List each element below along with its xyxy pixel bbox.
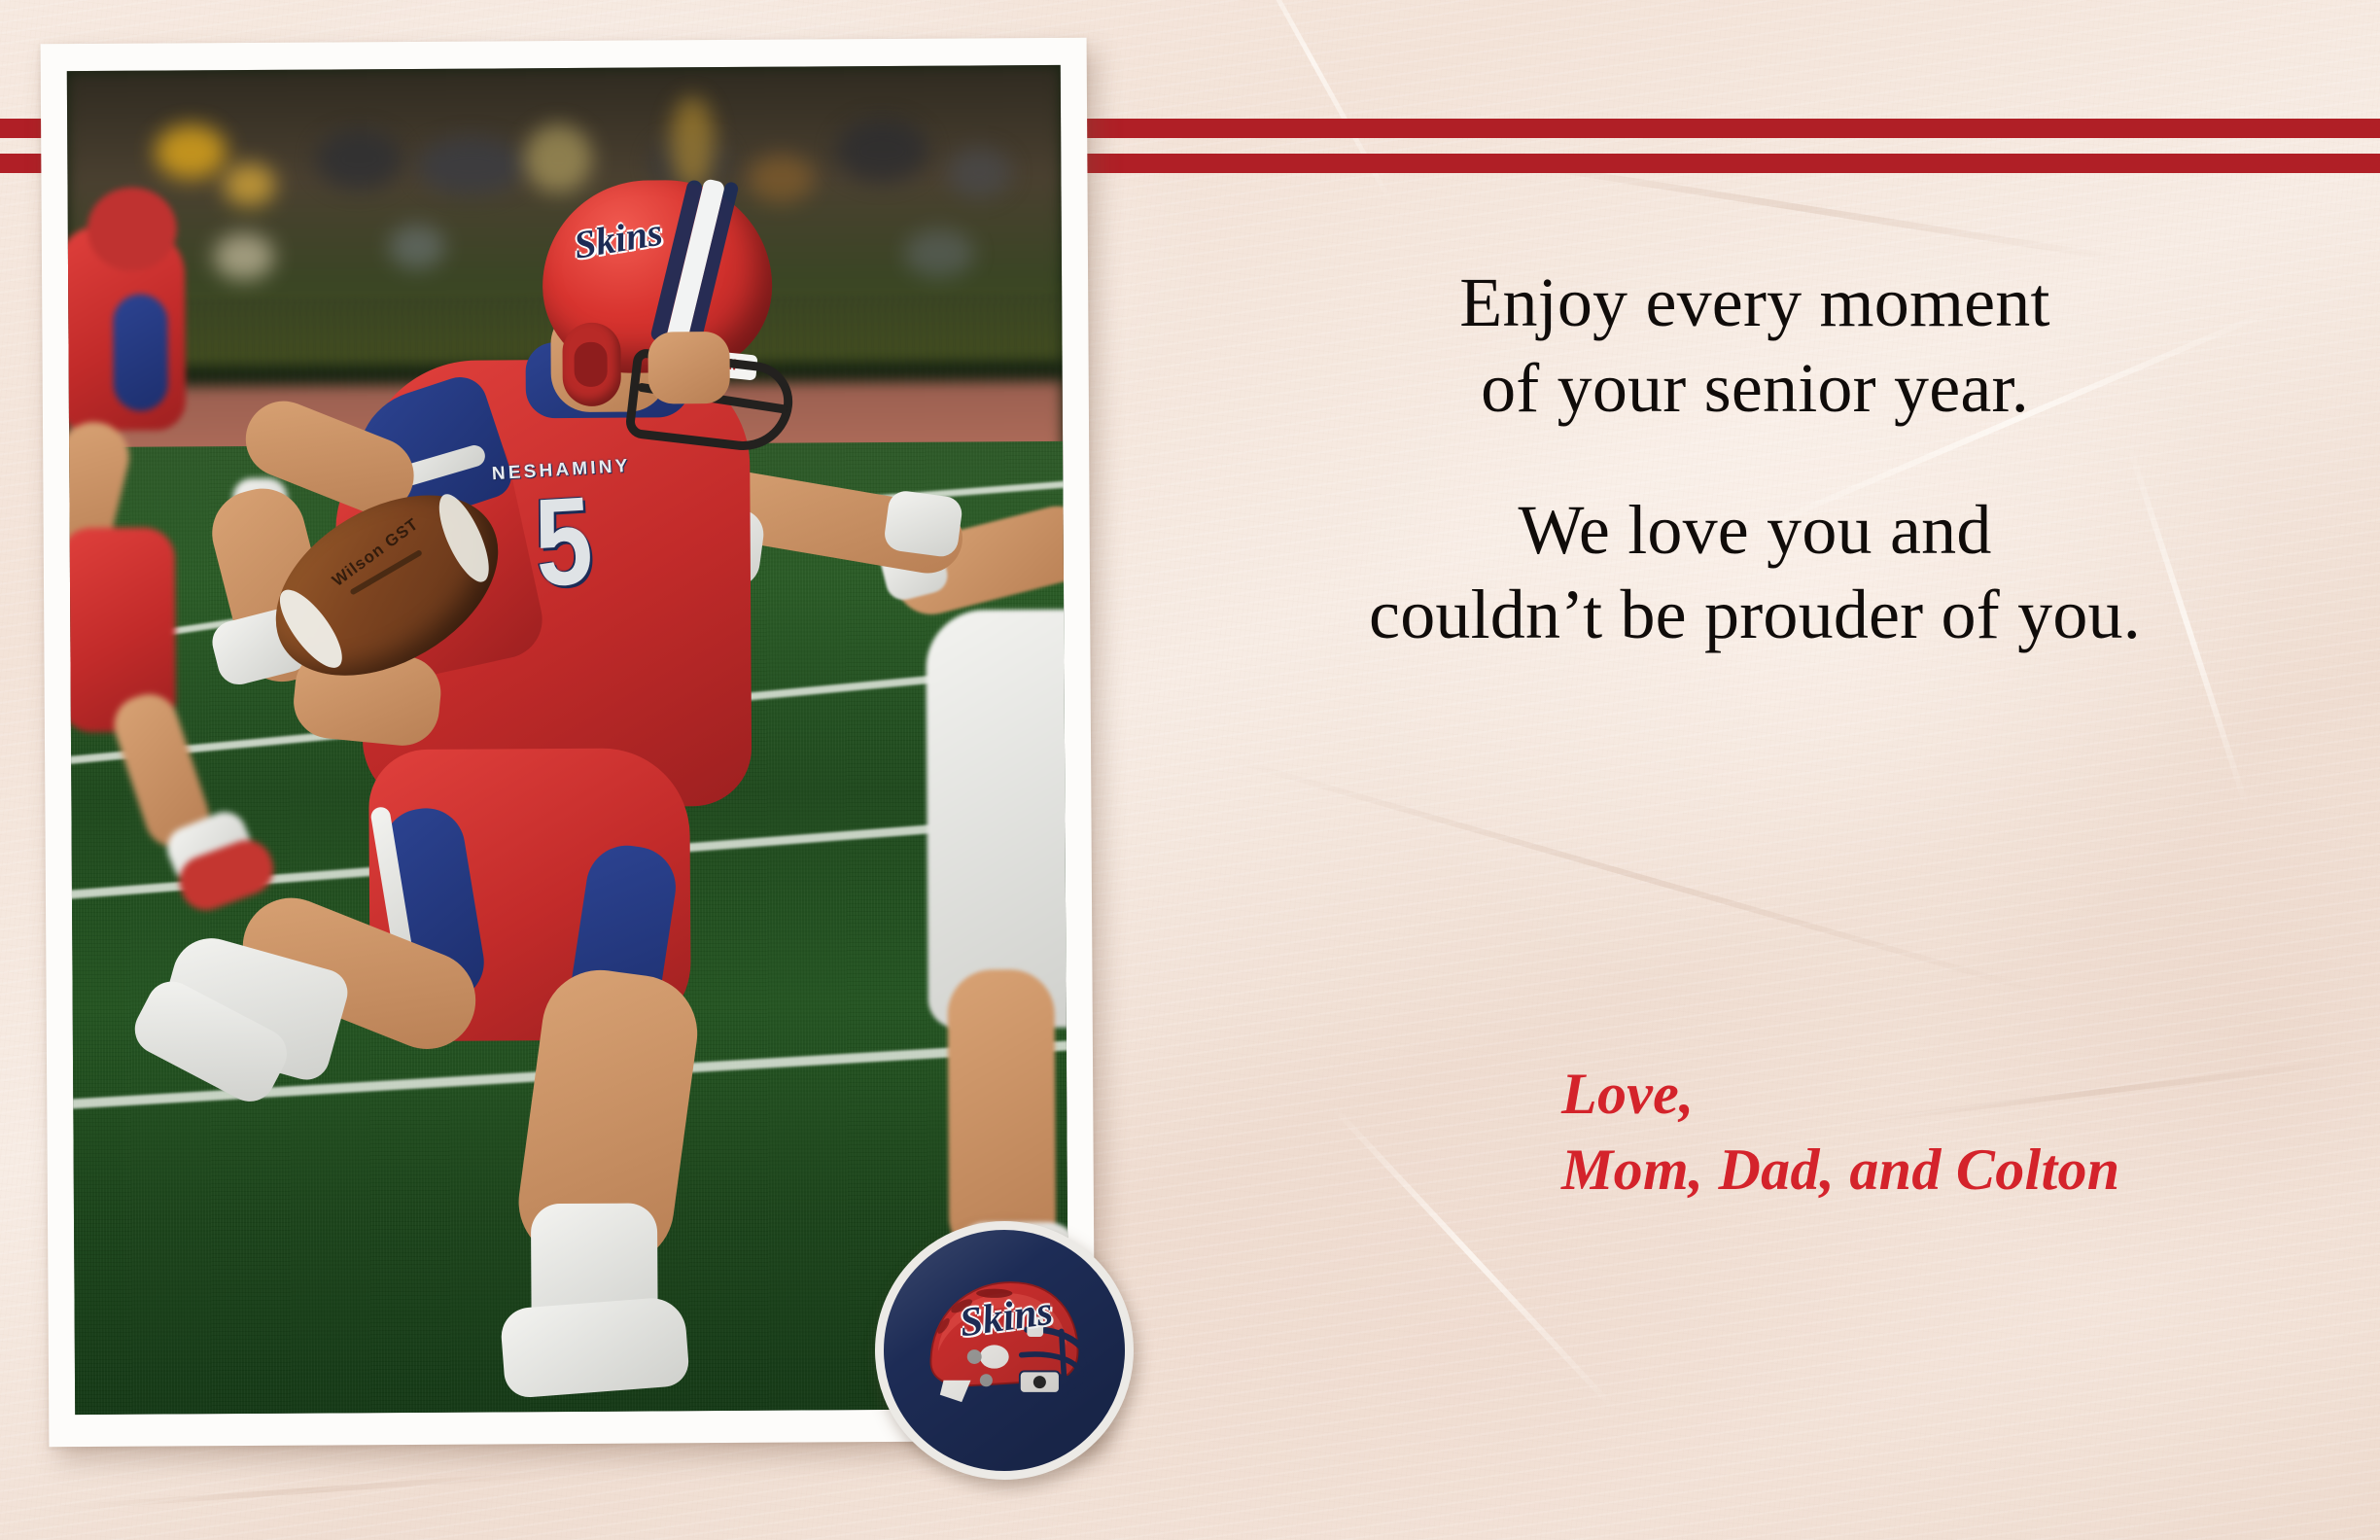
player-photo: NESHAMINY 5 Wilson GST bbox=[67, 65, 1068, 1415]
tribute-message: Enjoy every moment of your senior year. … bbox=[1303, 261, 2207, 658]
signature-block: Love, Mom, Dad, and Colton bbox=[1561, 1056, 2380, 1207]
message-line-3: We love you and bbox=[1303, 488, 2207, 574]
badge-sheen bbox=[884, 1230, 1125, 1471]
senior-tribute-page: NESHAMINY 5 Wilson GST bbox=[0, 0, 2380, 1540]
photo-main-player: NESHAMINY 5 Wilson GST bbox=[67, 65, 1068, 1415]
team-helmet-badge: Skins bbox=[875, 1221, 1134, 1480]
message-spacer bbox=[1303, 432, 2207, 488]
message-line-1: Enjoy every moment bbox=[1303, 261, 2207, 346]
message-line-4: couldn’t be prouder of you. bbox=[1303, 573, 2207, 658]
jersey-number: 5 bbox=[480, 475, 647, 609]
signature-line-1: Love, bbox=[1561, 1056, 2380, 1132]
message-line-2: of your senior year. bbox=[1303, 346, 2207, 432]
signature-line-2: Mom, Dad, and Colton bbox=[1561, 1132, 2380, 1207]
